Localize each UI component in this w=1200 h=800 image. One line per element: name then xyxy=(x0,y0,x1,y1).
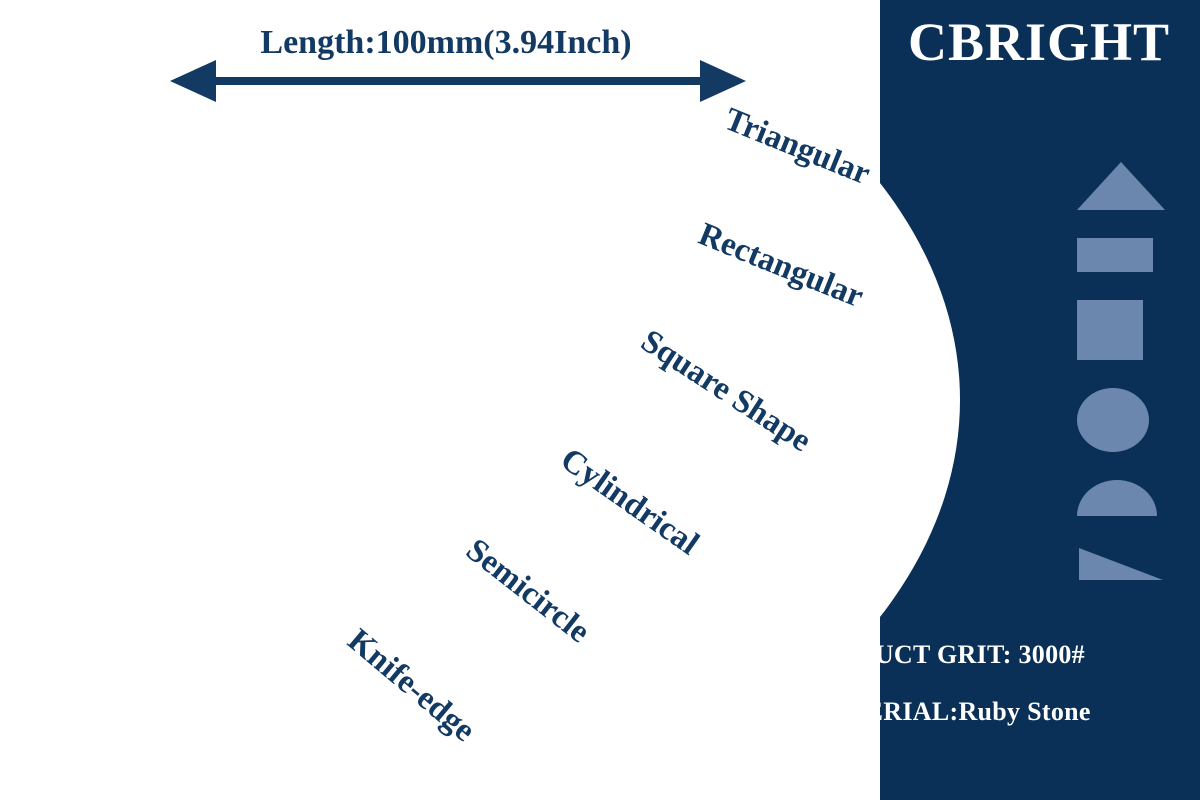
rectangle-cross-section-icon xyxy=(1075,236,1185,274)
spec-material: MATERIAL:Ruby Stone xyxy=(806,697,1091,727)
triangle-cross-section-icon xyxy=(1075,160,1185,212)
semicircle-cross-section-icon xyxy=(1075,478,1185,518)
spec-product-grit: PRODUCT GRIT: 3000# xyxy=(800,640,1085,670)
cross-section-icon-column xyxy=(1075,160,1185,608)
circle-cross-section-icon xyxy=(1075,386,1185,454)
length-label: Length:100mm(3.94Inch) xyxy=(186,24,706,62)
product-banner: Length:100mm(3.94Inch) CBRIGHT Triangula… xyxy=(0,0,1200,800)
double-headed-arrow-icon xyxy=(168,60,748,107)
square-cross-section-icon xyxy=(1075,298,1185,362)
knife-edge-cross-section-icon xyxy=(1075,542,1185,584)
brand-logo-text: CBRIGHT xyxy=(884,14,1194,71)
